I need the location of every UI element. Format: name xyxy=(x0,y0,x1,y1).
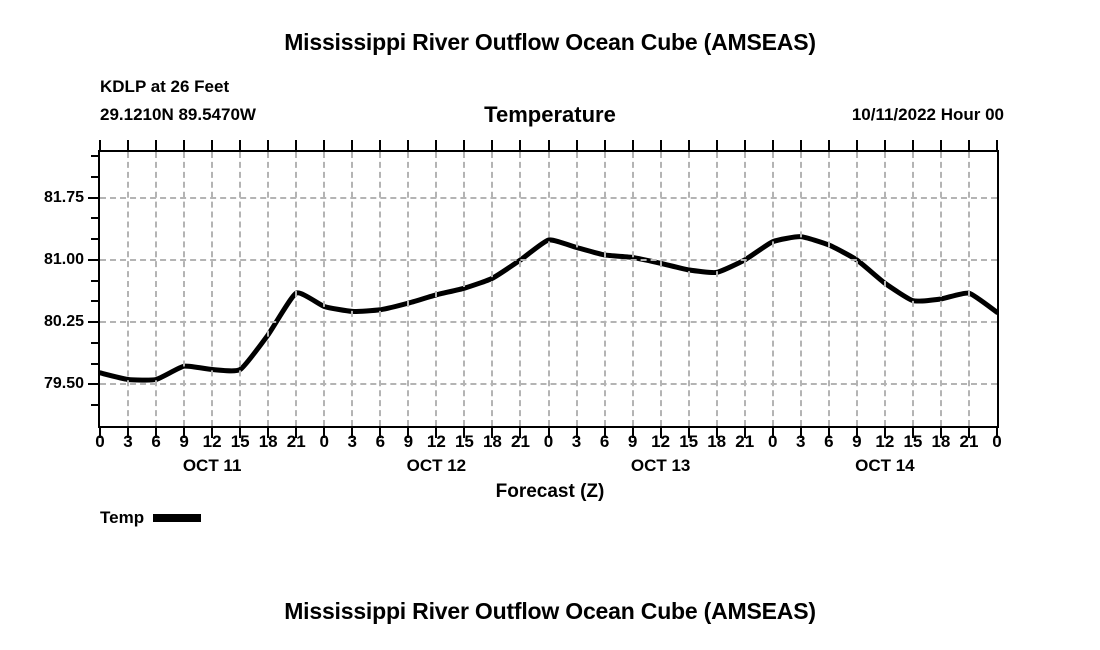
x-tick-label-30: 18 xyxy=(931,432,950,452)
x-tick-mark-top-18 xyxy=(604,140,606,150)
x-tick-mark-top-25 xyxy=(800,140,802,150)
gridline-v-16 xyxy=(548,152,550,426)
x-tick-label-5: 15 xyxy=(231,432,250,452)
gridline-v-8 xyxy=(323,152,325,426)
x-tick-mark-top-6 xyxy=(267,140,269,150)
gridline-v-1 xyxy=(127,152,129,426)
day-label-1: OCT 12 xyxy=(407,456,467,476)
x-tick-mark-top-13 xyxy=(463,140,465,150)
x-tick-label-6: 18 xyxy=(259,432,278,452)
gridline-v-3 xyxy=(183,152,185,426)
day-label-0: OCT 11 xyxy=(183,456,242,476)
y-tick-label-0: 79.50 xyxy=(28,375,84,393)
x-tick-mark-top-21 xyxy=(688,140,690,150)
gridline-v-14 xyxy=(491,152,493,426)
x-tick-mark-top-17 xyxy=(576,140,578,150)
x-tick-label-10: 6 xyxy=(376,432,385,452)
x-tick-label-13: 15 xyxy=(455,432,474,452)
gridline-v-25 xyxy=(800,152,802,426)
x-tick-mark-top-27 xyxy=(856,140,858,150)
x-tick-label-19: 9 xyxy=(628,432,637,452)
station-depth-label: KDLP at 26 Feet xyxy=(100,77,229,97)
x-tick-label-2: 6 xyxy=(151,432,160,452)
legend-swatch-temp xyxy=(153,514,201,522)
x-tick-label-32: 0 xyxy=(992,432,1001,452)
page-title-bottom: Mississippi River Outflow Ocean Cube (AM… xyxy=(0,598,1100,625)
x-tick-mark-top-32 xyxy=(996,140,998,150)
x-tick-label-14: 18 xyxy=(483,432,502,452)
gridline-v-18 xyxy=(604,152,606,426)
gridline-v-6 xyxy=(267,152,269,426)
x-tick-label-20: 12 xyxy=(651,432,670,452)
x-tick-label-7: 21 xyxy=(287,432,306,452)
gridline-v-15 xyxy=(519,152,521,426)
x-tick-label-17: 3 xyxy=(572,432,581,452)
legend: Temp xyxy=(100,508,201,528)
gridline-v-17 xyxy=(576,152,578,426)
gridline-v-26 xyxy=(828,152,830,426)
x-tick-label-1: 3 xyxy=(123,432,132,452)
y-tick-label-1: 80.25 xyxy=(28,313,84,331)
gridline-v-21 xyxy=(688,152,690,426)
x-tick-mark-top-14 xyxy=(491,140,493,150)
x-tick-label-8: 0 xyxy=(320,432,329,452)
gridline-v-28 xyxy=(884,152,886,426)
x-tick-label-27: 9 xyxy=(852,432,861,452)
x-tick-label-16: 0 xyxy=(544,432,553,452)
x-tick-mark-top-8 xyxy=(323,140,325,150)
x-tick-mark-top-2 xyxy=(155,140,157,150)
gridline-v-5 xyxy=(239,152,241,426)
x-tick-mark-top-23 xyxy=(744,140,746,150)
day-label-2: OCT 13 xyxy=(631,456,691,476)
x-axis-title: Forecast (Z) xyxy=(0,481,1100,503)
gridline-v-30 xyxy=(940,152,942,426)
y-tick-label-2: 81.00 xyxy=(28,251,84,269)
x-tick-label-24: 0 xyxy=(768,432,777,452)
x-tick-label-26: 6 xyxy=(824,432,833,452)
gridline-v-31 xyxy=(968,152,970,426)
x-tick-mark-top-22 xyxy=(716,140,718,150)
gridline-v-23 xyxy=(744,152,746,426)
x-tick-mark-top-12 xyxy=(435,140,437,150)
x-tick-label-4: 12 xyxy=(203,432,222,452)
x-tick-label-31: 21 xyxy=(960,432,979,452)
model-run-label: 10/11/2022 Hour 00 xyxy=(852,105,1004,125)
gridline-v-22 xyxy=(716,152,718,426)
x-tick-mark-top-1 xyxy=(127,140,129,150)
legend-label-temp: Temp xyxy=(100,508,144,528)
plot-area xyxy=(98,150,999,428)
x-tick-label-3: 9 xyxy=(179,432,188,452)
x-tick-mark-top-5 xyxy=(239,140,241,150)
x-tick-label-29: 15 xyxy=(903,432,922,452)
gridline-v-2 xyxy=(155,152,157,426)
y-tick-label-3: 81.75 xyxy=(28,189,84,207)
gridline-v-24 xyxy=(772,152,774,426)
x-tick-mark-top-16 xyxy=(548,140,550,150)
x-tick-mark-top-19 xyxy=(632,140,634,150)
gridline-v-7 xyxy=(295,152,297,426)
gridline-v-19 xyxy=(632,152,634,426)
x-tick-mark-top-3 xyxy=(183,140,185,150)
gridline-v-20 xyxy=(660,152,662,426)
gridline-v-9 xyxy=(351,152,353,426)
page-title-top: Mississippi River Outflow Ocean Cube (AM… xyxy=(0,29,1100,56)
x-tick-mark-top-26 xyxy=(828,140,830,150)
x-tick-label-23: 21 xyxy=(735,432,754,452)
gridline-v-29 xyxy=(912,152,914,426)
x-tick-label-15: 21 xyxy=(511,432,530,452)
gridline-v-27 xyxy=(856,152,858,426)
x-tick-mark-top-20 xyxy=(660,140,662,150)
gridline-v-12 xyxy=(435,152,437,426)
x-tick-mark-top-4 xyxy=(211,140,213,150)
gridline-v-11 xyxy=(407,152,409,426)
x-tick-label-25: 3 xyxy=(796,432,805,452)
x-tick-mark-top-10 xyxy=(379,140,381,150)
x-tick-mark-top-11 xyxy=(407,140,409,150)
chart-page: Mississippi River Outflow Ocean Cube (AM… xyxy=(0,0,1100,650)
x-tick-label-9: 3 xyxy=(348,432,357,452)
x-tick-mark-top-9 xyxy=(351,140,353,150)
x-tick-mark-top-28 xyxy=(884,140,886,150)
plot-inner xyxy=(100,152,997,426)
x-tick-label-11: 9 xyxy=(404,432,413,452)
x-tick-mark-top-7 xyxy=(295,140,297,150)
x-tick-mark-top-24 xyxy=(772,140,774,150)
gridline-v-13 xyxy=(463,152,465,426)
day-label-3: OCT 14 xyxy=(855,456,915,476)
x-tick-mark-top-29 xyxy=(912,140,914,150)
x-tick-label-12: 12 xyxy=(427,432,446,452)
x-tick-mark-top-30 xyxy=(940,140,942,150)
gridline-v-10 xyxy=(379,152,381,426)
x-tick-label-28: 12 xyxy=(875,432,894,452)
x-tick-label-18: 6 xyxy=(600,432,609,452)
x-tick-mark-top-15 xyxy=(519,140,521,150)
gridline-v-4 xyxy=(211,152,213,426)
x-tick-mark-top-0 xyxy=(99,140,101,150)
x-tick-label-21: 15 xyxy=(679,432,698,452)
x-tick-label-0: 0 xyxy=(95,432,104,452)
x-tick-mark-top-31 xyxy=(968,140,970,150)
x-tick-label-22: 18 xyxy=(707,432,726,452)
